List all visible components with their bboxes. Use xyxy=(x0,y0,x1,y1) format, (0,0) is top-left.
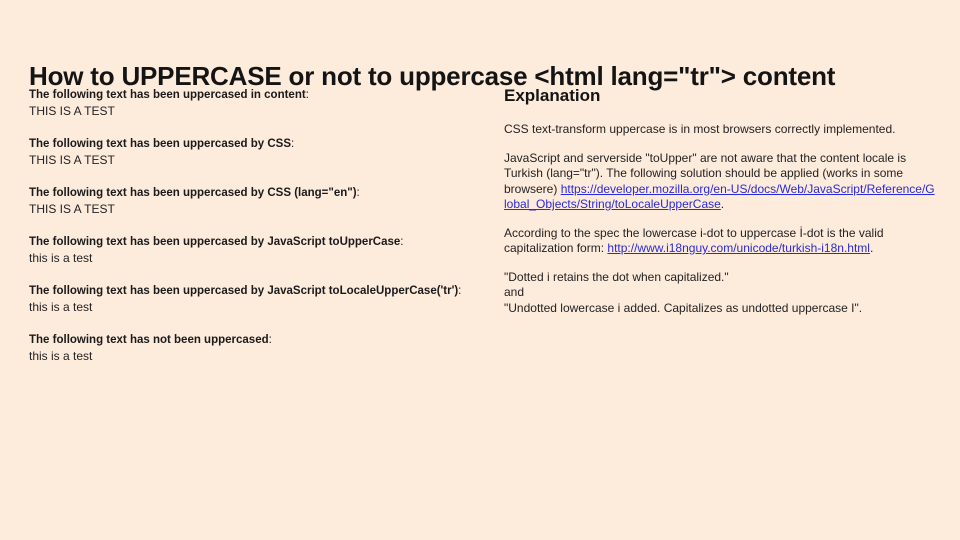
demo-block: The following text has been uppercased b… xyxy=(29,284,479,315)
spec-quote-2: "Undotted lowercase i added. Capitalizes… xyxy=(504,301,936,317)
demo-label-text: The following text has been uppercased b… xyxy=(29,236,400,248)
slide-page: How to UPPERCASE or not to uppercase <ht… xyxy=(0,0,960,540)
demo-label-colon: : xyxy=(269,334,272,346)
demo-value: this is a test xyxy=(29,348,479,364)
demo-label-colon: : xyxy=(306,89,309,101)
explanation-column: Explanation CSS text-transform uppercase… xyxy=(504,86,936,316)
demo-block: The following text has been uppercased b… xyxy=(29,235,479,266)
demo-label: The following text has been uppercased b… xyxy=(29,137,479,152)
demo-label-text: The following text has been uppercased b… xyxy=(29,285,458,297)
demo-block: The following text has not been uppercas… xyxy=(29,333,479,364)
spec-quote-conjunction: and xyxy=(504,285,936,301)
demo-label-text: The following text has been uppercased i… xyxy=(29,89,306,101)
demo-label-text: The following text has not been uppercas… xyxy=(29,334,269,346)
demo-label: The following text has been uppercased b… xyxy=(29,186,479,201)
demo-block: The following text has been uppercased b… xyxy=(29,186,479,217)
demo-label-colon: : xyxy=(458,285,461,297)
demo-value: THIS IS A TEST xyxy=(29,103,479,119)
demo-label-text: The following text has been uppercased b… xyxy=(29,187,357,199)
demo-label: The following text has been uppercased i… xyxy=(29,88,479,103)
explanation-heading: Explanation xyxy=(504,86,936,106)
spec-quote-1: "Dotted i retains the dot when capitaliz… xyxy=(504,270,936,286)
demo-block: The following text has been uppercased i… xyxy=(29,88,479,119)
explanation-paragraph-1: CSS text-transform uppercase is in most … xyxy=(504,122,936,138)
demo-label: The following text has not been uppercas… xyxy=(29,333,479,348)
demo-value: THIS IS A TEST xyxy=(29,152,479,168)
i18nguy-turkish-link[interactable]: http://www.i18nguy.com/unicode/turkish-i… xyxy=(607,241,870,255)
mdn-tolocaleuppercase-link[interactable]: https://developer.mozilla.org/en-US/docs… xyxy=(504,182,935,212)
demo-value: this is a test xyxy=(29,250,479,266)
paragraph-3-text-after: . xyxy=(870,241,873,255)
explanation-paragraph-2: JavaScript and serverside "toUpper" are … xyxy=(504,151,936,213)
demo-label-text: The following text has been uppercased b… xyxy=(29,138,291,150)
demo-label-colon: : xyxy=(291,138,294,150)
demo-label-colon: : xyxy=(400,236,403,248)
demo-column: The following text has been uppercased i… xyxy=(29,88,479,364)
demo-value: THIS IS A TEST xyxy=(29,201,479,217)
explanation-paragraph-3: According to the spec the lowercase i-do… xyxy=(504,226,936,257)
demo-value: this is a test xyxy=(29,299,479,315)
demo-label-colon: : xyxy=(357,187,360,199)
demo-label: The following text has been uppercased b… xyxy=(29,235,479,250)
paragraph-2-text-after: . xyxy=(721,197,724,211)
demo-label: The following text has been uppercased b… xyxy=(29,284,479,299)
demo-block: The following text has been uppercased b… xyxy=(29,137,479,168)
spec-quote-block: "Dotted i retains the dot when capitaliz… xyxy=(504,270,936,317)
